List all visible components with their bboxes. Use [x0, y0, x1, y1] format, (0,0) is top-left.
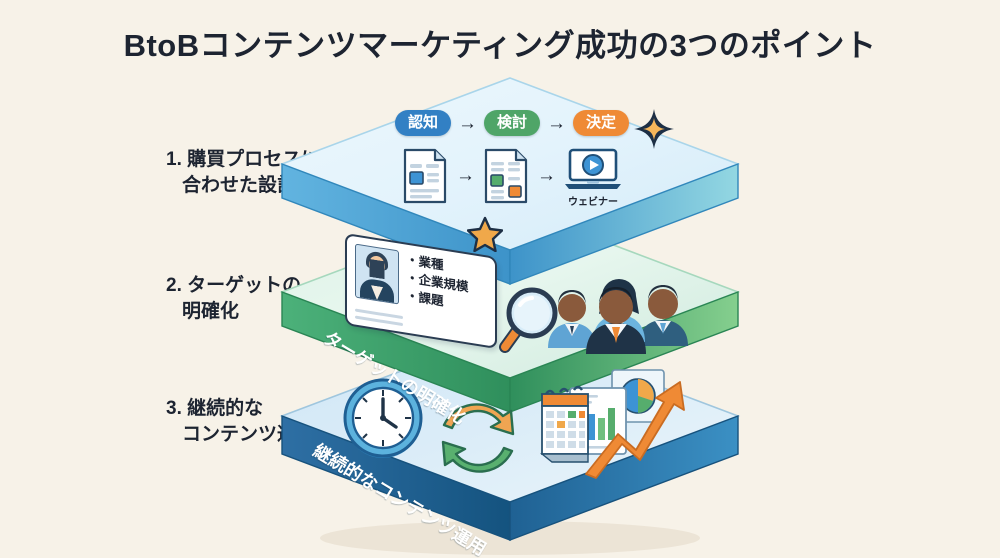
persona-avatar [355, 244, 399, 305]
webinar-label: ウェビナー [568, 193, 618, 208]
page-title: BtoBコンテンツマーケティング成功の3つのポイント [0, 20, 1000, 65]
document-green-cell [483, 148, 529, 204]
document-blue-icon [402, 148, 448, 204]
analytics-cluster [540, 368, 688, 489]
target-audience-people [538, 250, 698, 350]
slide-canvas: BtoBコンテンツマーケティング成功の3つのポイント 1. 購買プロセスに 合わ… [0, 0, 1000, 558]
webinar-laptop-icon [564, 148, 622, 192]
stage-badge-awareness[interactable]: 認知 [395, 110, 451, 136]
document-blue-cell [402, 148, 448, 204]
sparkle-star-icon [632, 107, 676, 156]
person-avatar [638, 285, 688, 346]
person-avatar [586, 287, 646, 354]
five-point-star-icon [467, 216, 503, 257]
stage-badge-decision[interactable]: 決定 [573, 110, 629, 136]
arrow-right-icon: → [458, 114, 477, 133]
document-green-icon [483, 148, 529, 204]
arrow-right-icon: → [537, 166, 556, 185]
content-asset-row: → → [282, 148, 742, 208]
arrow-right-icon: → [456, 166, 475, 185]
persona-attribute-list: ・業種 ・企業規模 ・課題 [406, 252, 469, 337]
arrow-right-icon: → [547, 114, 566, 133]
step-label-3-line1: 3. 継続的な [166, 398, 263, 419]
webinar-cell: ウェビナー [564, 148, 622, 208]
calendar-icon [542, 387, 588, 462]
persona-placeholder-lines [355, 305, 403, 327]
stage-badge-consideration[interactable]: 検討 [484, 110, 540, 136]
